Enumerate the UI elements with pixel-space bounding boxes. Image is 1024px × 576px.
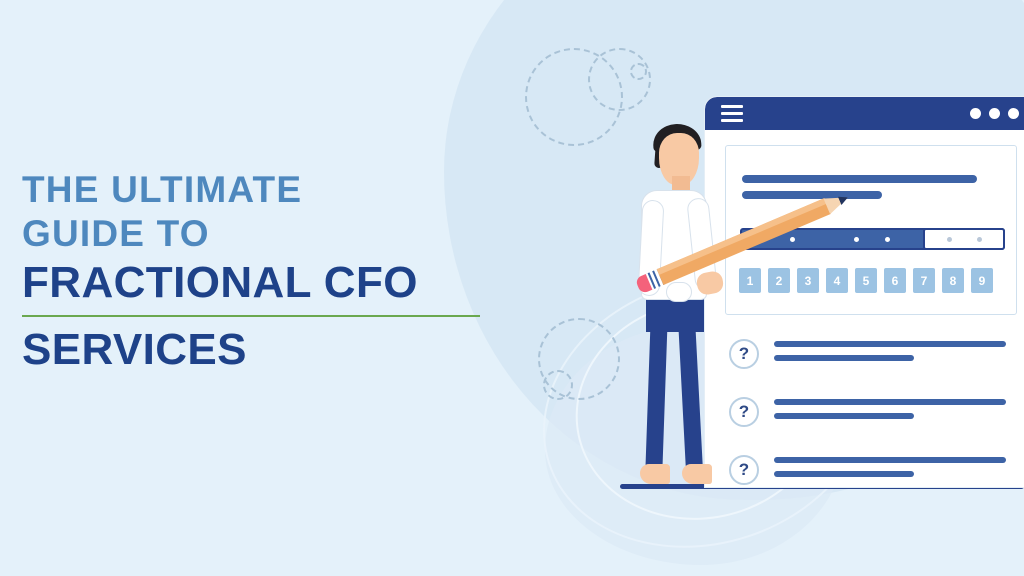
page-number-button[interactable]: 3 (797, 268, 819, 293)
progress-dot-filled (885, 237, 890, 242)
illustration: 1 2 3 4 5 6 7 8 9 ? (0, 0, 1024, 576)
hamburger-line (721, 105, 743, 108)
progress-dot-filled (854, 237, 859, 242)
faq-line-long (774, 399, 1006, 405)
hamburger-line (721, 119, 743, 122)
page-number-button[interactable]: 7 (913, 268, 935, 293)
progress-dot-empty (947, 237, 952, 242)
window-dot-icon[interactable] (970, 108, 981, 119)
hamburger-icon[interactable] (721, 105, 743, 122)
browser-title-bar (705, 97, 1024, 130)
page-number-button[interactable]: 9 (971, 268, 993, 293)
progress-dot-empty (977, 237, 982, 242)
progress-bar-remaining (923, 228, 1005, 250)
page-number-button[interactable]: 8 (942, 268, 964, 293)
question-mark-icon: ? (729, 339, 759, 369)
window-control-dots[interactable] (970, 108, 1019, 119)
page-number-button[interactable]: 5 (855, 268, 877, 293)
question-mark-icon: ? (729, 455, 759, 485)
progress-dot-filled (790, 237, 795, 242)
page-number-button[interactable]: 6 (884, 268, 906, 293)
page-number-button[interactable]: 1 (739, 268, 761, 293)
faq-text-lines (774, 341, 1006, 369)
person-hand-lower (666, 282, 692, 302)
faq-line-long (774, 341, 1006, 347)
placeholder-text-line-short (742, 191, 882, 199)
banner: THE ULTIMATE GUIDE TO FRACTIONAL CFO SER… (0, 0, 1024, 576)
pagination-number-row[interactable]: 1 2 3 4 5 6 7 8 9 (739, 268, 993, 293)
faq-text-lines (774, 399, 1006, 427)
faq-item[interactable]: ? (729, 451, 1024, 487)
browser-window-mockup: 1 2 3 4 5 6 7 8 9 ? (705, 97, 1024, 487)
person-foot-right (682, 464, 712, 484)
person-leg-right (678, 320, 703, 471)
person-leg-left (645, 320, 667, 471)
faq-text-lines (774, 457, 1006, 485)
question-mark-icon: ? (729, 397, 759, 427)
faq-line-long (774, 457, 1006, 463)
hamburger-line (721, 112, 743, 115)
person-foot-left (640, 464, 670, 484)
faq-item[interactable]: ? (729, 335, 1024, 393)
faq-line-short (774, 355, 914, 361)
page-number-button[interactable]: 4 (826, 268, 848, 293)
placeholder-text-line-long (742, 175, 977, 183)
faq-line-short (774, 413, 914, 419)
faq-line-short (774, 471, 914, 477)
page-number-button[interactable]: 2 (768, 268, 790, 293)
window-dot-icon[interactable] (1008, 108, 1019, 119)
faq-list: ? ? ? (729, 335, 1024, 487)
faq-item[interactable]: ? (729, 393, 1024, 451)
window-dot-icon[interactable] (989, 108, 1000, 119)
